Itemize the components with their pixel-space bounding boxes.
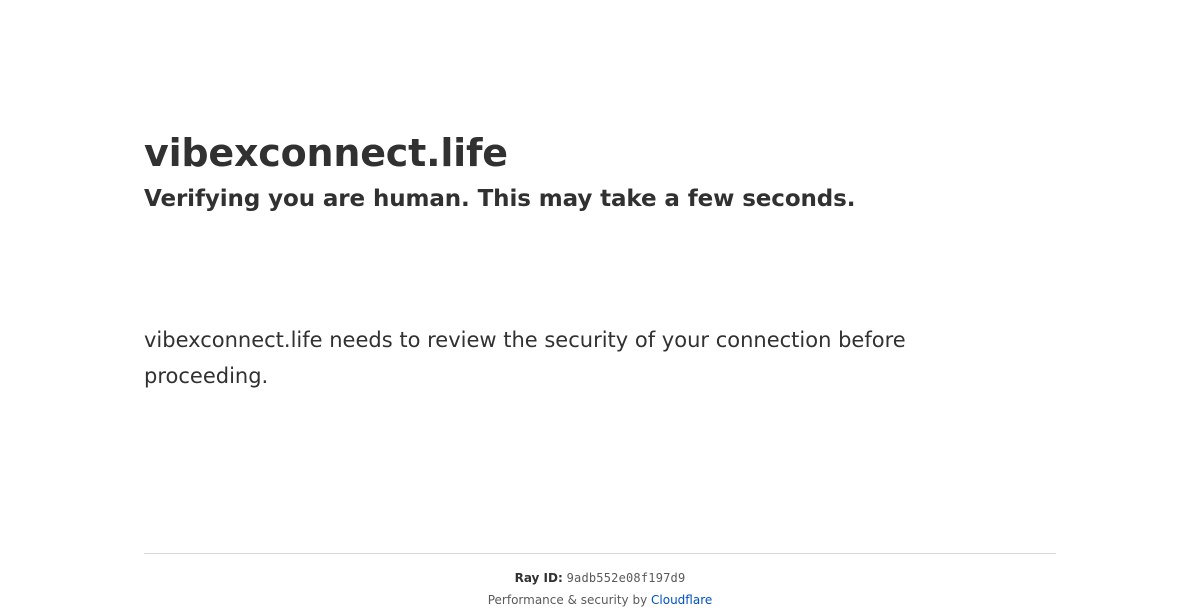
- content-container: vibexconnect.life Verifying you are huma…: [144, 0, 1056, 600]
- branding-line: Performance & security by Cloudflare: [144, 586, 1056, 608]
- branding-prefix: Performance & security by: [488, 593, 651, 607]
- cloudflare-link[interactable]: Cloudflare: [651, 593, 712, 607]
- ray-id-line: Ray ID: 9adb552e08f197d9: [144, 570, 1056, 586]
- ray-id-value: 9adb552e08f197d9: [567, 571, 686, 585]
- challenge-main: vibexconnect.life Verifying you are huma…: [144, 130, 1056, 214]
- challenge-description: vibexconnect.life needs to review the se…: [144, 322, 944, 394]
- page-title: vibexconnect.life: [144, 130, 1056, 176]
- challenge-page: vibexconnect.life Verifying you are huma…: [0, 0, 1200, 600]
- verification-status-text: Verifying you are human. This may take a…: [144, 176, 1056, 214]
- turnstile-challenge-widget[interactable]: [144, 238, 454, 313]
- ray-id-label: Ray ID:: [515, 571, 563, 585]
